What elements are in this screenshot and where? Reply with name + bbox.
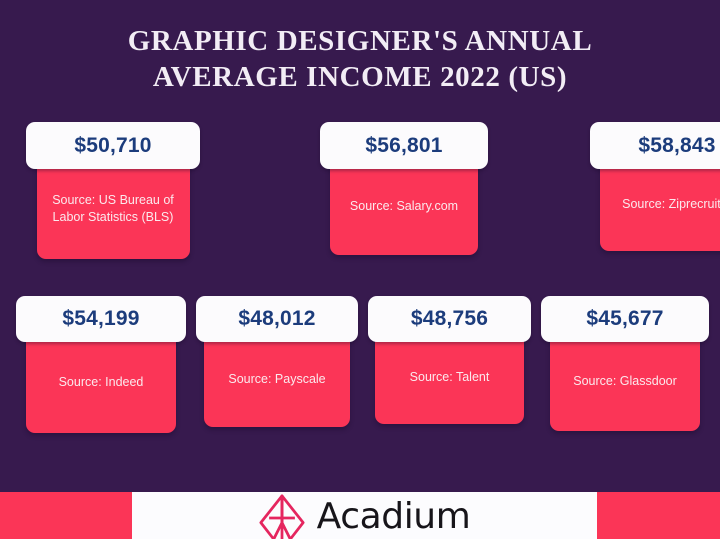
stat-card: $54,199 Source: Indeed — [16, 296, 186, 433]
stat-card-source: Source: Indeed — [26, 331, 176, 433]
stat-card-amount: $48,012 — [196, 296, 358, 342]
stat-card: $48,012 Source: Payscale — [196, 296, 358, 433]
stat-card-amount: $45,677 — [541, 296, 709, 342]
stat-card: $50,710 Source: US Bureau of Labor Stati… — [26, 122, 200, 259]
stat-card-amount: $50,710 — [26, 122, 200, 169]
stat-card-source: Source: Talent — [375, 331, 524, 424]
stat-card-amount: $58,843 — [590, 122, 720, 169]
stat-card-source: Source: Payscale — [204, 331, 350, 427]
stat-card-source: Source: Glassdoor — [550, 331, 700, 431]
page-title-line-1: GRAPHIC DESIGNER'S ANNUAL — [0, 24, 720, 60]
stat-card: $58,843 Source: Ziprecruiter — [590, 122, 720, 259]
footer-band: Acadium — [0, 492, 720, 539]
stat-card-row-2: $54,199 Source: Indeed $48,012 Source: P… — [16, 296, 706, 433]
stat-card-amount: $48,756 — [368, 296, 531, 342]
stat-card: $45,677 Source: Glassdoor — [541, 296, 709, 433]
brand-wordmark: Acadium — [317, 499, 471, 535]
stat-card-source: Source: Salary.com — [330, 158, 478, 255]
stat-card-row-1: $50,710 Source: US Bureau of Labor Stati… — [26, 122, 694, 259]
stat-card-amount: $56,801 — [320, 122, 488, 169]
page-title: GRAPHIC DESIGNER'S ANNUAL AVERAGE INCOME… — [0, 24, 720, 96]
stat-card-source: Source: US Bureau of Labor Statistics (B… — [37, 158, 190, 259]
infographic-canvas: GRAPHIC DESIGNER'S ANNUAL AVERAGE INCOME… — [0, 0, 720, 539]
stat-card-source: Source: Ziprecruiter — [600, 158, 720, 251]
brand-panel: Acadium — [132, 492, 597, 539]
stat-card-amount: $54,199 — [16, 296, 186, 342]
acadium-diamond-logo-icon — [259, 494, 305, 539]
stat-card: $56,801 Source: Salary.com — [320, 122, 488, 259]
page-title-line-2: AVERAGE INCOME 2022 (US) — [0, 60, 720, 96]
stat-card: $48,756 Source: Talent — [368, 296, 531, 433]
